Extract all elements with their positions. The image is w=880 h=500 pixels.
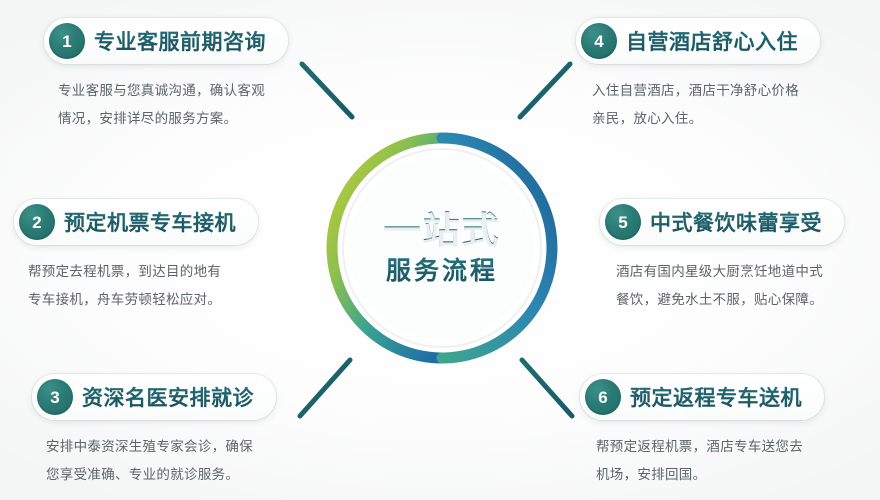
step-1-pill[interactable]: 1 专业客服前期咨询 <box>44 18 288 64</box>
step-4-description: 入住自营酒店，酒店干净舒心价格 亲民，放心入住。 <box>576 77 876 132</box>
center-title-primary: 一站式 <box>358 210 526 251</box>
step-1-title: 专业客服前期咨询 <box>94 26 266 56</box>
step-4-title: 自营酒店舒心入住 <box>626 26 798 56</box>
step-item-2[interactable]: 2 预定机票专车接机 帮预定去程机票，到达目的地有 专车接机，舟车劳顿轻松应对。 <box>14 199 314 313</box>
step-5-number-badge: 5 <box>605 204 641 240</box>
step-3-desc-line-1: 安排中泰资深生殖专家会诊，确保 <box>46 433 332 461</box>
step-6-title: 预定返程专车送机 <box>630 382 802 412</box>
step-5-desc-line-1: 酒店有国内星级大厨烹饪地道中式 <box>616 258 880 286</box>
connector-step-4 <box>520 64 570 117</box>
connector-step-6 <box>522 360 572 416</box>
step-6-pill[interactable]: 6 预定返程专车送机 <box>580 374 824 420</box>
step-1-description: 专业客服与您真诚沟通，确认客观 情况，安排详尽的服务方案。 <box>44 77 344 132</box>
center-emblem: 一站式 服务流程 <box>322 128 562 368</box>
infographic-canvas: 一站式 服务流程 1 专业客服前期咨询 专业客服与您真诚沟通，确认客观 情况，安… <box>0 0 880 500</box>
step-6-number-badge: 6 <box>585 379 621 415</box>
step-2-title: 预定机票专车接机 <box>64 207 236 237</box>
step-4-desc-line-2: 亲民，放心入住。 <box>592 105 876 133</box>
center-title-secondary: 服务流程 <box>358 256 526 286</box>
step-4-pill[interactable]: 4 自营酒店舒心入住 <box>576 18 820 64</box>
step-1-number-badge: 1 <box>49 23 85 59</box>
step-3-number-badge: 3 <box>37 379 73 415</box>
step-6-desc-line-1: 帮预定返程机票，酒店专车送您去 <box>596 433 880 461</box>
step-item-5[interactable]: 5 中式餐饮味蕾享受 酒店有国内星级大厨烹饪地道中式 餐饮，避免水土不服，贴心保… <box>600 199 880 313</box>
step-3-desc-line-2: 您享受准确、专业的就诊服务。 <box>46 461 332 489</box>
step-5-description: 酒店有国内星级大厨烹饪地道中式 餐饮，避免水土不服，贴心保障。 <box>600 258 880 313</box>
step-2-pill[interactable]: 2 预定机票专车接机 <box>14 199 258 245</box>
step-item-1[interactable]: 1 专业客服前期咨询 专业客服与您真诚沟通，确认客观 情况，安排详尽的服务方案。 <box>44 18 344 132</box>
step-5-pill[interactable]: 5 中式餐饮味蕾享受 <box>600 199 844 245</box>
step-6-desc-line-2: 机场，安排回国。 <box>596 461 880 489</box>
step-3-title: 资深名医安排就诊 <box>82 382 254 412</box>
step-6-description: 帮预定返程机票，酒店专车送您去 机场，安排回国。 <box>580 433 880 488</box>
step-5-desc-line-2: 餐饮，避免水土不服，贴心保障。 <box>616 286 880 314</box>
step-2-desc-line-2: 专车接机，舟车劳顿轻松应对。 <box>28 286 314 314</box>
step-4-desc-line-1: 入住自营酒店，酒店干净舒心价格 <box>592 77 876 105</box>
step-item-3[interactable]: 3 资深名医安排就诊 安排中泰资深生殖专家会诊，确保 您享受准确、专业的就诊服务… <box>32 374 332 488</box>
step-item-4[interactable]: 4 自营酒店舒心入住 入住自营酒店，酒店干净舒心价格 亲民，放心入住。 <box>576 18 876 132</box>
step-1-desc-line-2: 情况，安排详尽的服务方案。 <box>58 105 344 133</box>
step-2-description: 帮预定去程机票，到达目的地有 专车接机，舟车劳顿轻松应对。 <box>14 258 314 313</box>
step-2-number-badge: 2 <box>19 204 55 240</box>
step-4-number-badge: 4 <box>581 23 617 59</box>
step-3-pill[interactable]: 3 资深名医安排就诊 <box>32 374 276 420</box>
step-5-title: 中式餐饮味蕾享受 <box>650 207 822 237</box>
step-2-desc-line-1: 帮预定去程机票，到达目的地有 <box>28 258 314 286</box>
step-3-description: 安排中泰资深生殖专家会诊，确保 您享受准确、专业的就诊服务。 <box>32 433 332 488</box>
step-1-desc-line-1: 专业客服与您真诚沟通，确认客观 <box>58 77 344 105</box>
step-item-6[interactable]: 6 预定返程专车送机 帮预定返程机票，酒店专车送您去 机场，安排回国。 <box>580 374 880 488</box>
